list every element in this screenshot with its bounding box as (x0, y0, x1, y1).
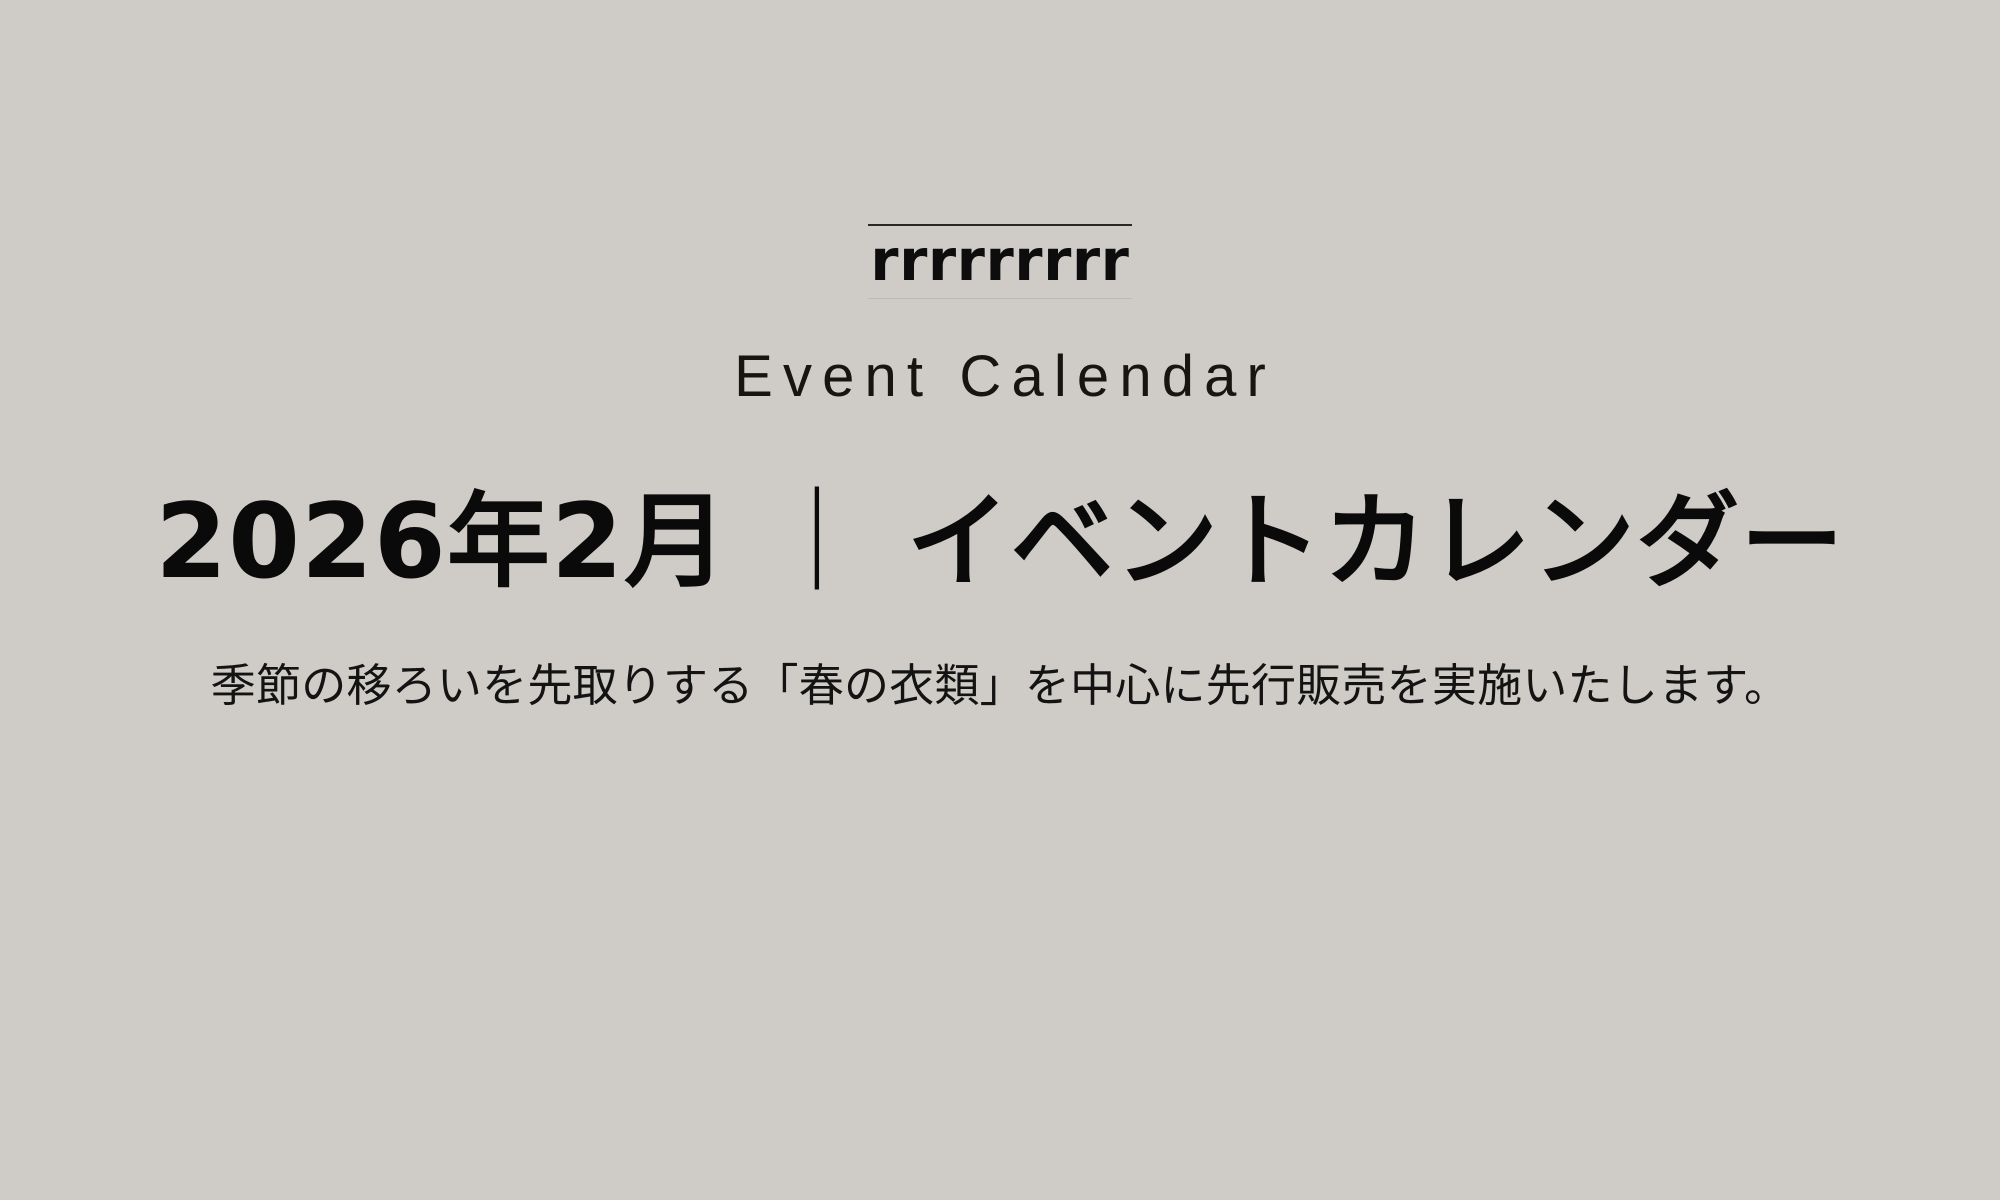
page-title-main: イベントカレンダー (907, 482, 1845, 602)
page-title-date: 2026年2月 (155, 482, 728, 602)
page-root: rrrrrrrrr Event Calendar 2026年2月 ｜ イベントカ… (0, 0, 2000, 1200)
page-title-separator: ｜ (765, 482, 869, 602)
page-title: 2026年2月 ｜ イベントカレンダー (110, 487, 1890, 598)
eyebrow-label-text: rrrrrrrrr (870, 232, 1129, 290)
page-lead-text: 季節の移ろいを先取りする「春の衣類」を中心に先行販売を実施いたします。 (110, 656, 1890, 717)
eyebrow-label: rrrrrrrrr (868, 224, 1131, 299)
hero-section: rrrrrrrrr Event Calendar 2026年2月 ｜ イベントカ… (0, 0, 2000, 900)
page-subheading: Event Calendar (724, 345, 1276, 409)
